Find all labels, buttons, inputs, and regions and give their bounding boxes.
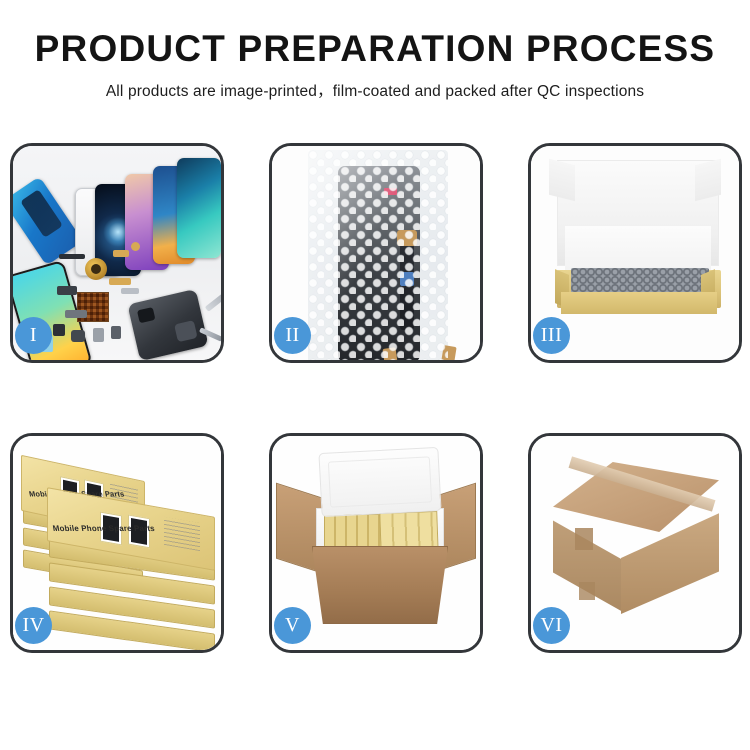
process-step-panel-1: I [10, 143, 224, 363]
phone-display-teal-icon [177, 158, 221, 258]
page-title: PRODUCT PREPARATION PROCESS [0, 30, 750, 69]
bubble-wrap-bag [308, 150, 448, 360]
speaker-icon [111, 326, 121, 339]
box-lid-flap-right [695, 159, 721, 201]
camera-module-icon [53, 324, 65, 336]
connector-icon [57, 286, 77, 295]
step-badge-4: IV [15, 607, 52, 644]
page-subtitle: All products are image-printed，film-coat… [0, 79, 750, 101]
foam-lid-icon [318, 447, 441, 517]
product-preparation-process-page: PRODUCT PREPARATION PROCESS All products… [0, 0, 750, 750]
vibrator-icon [71, 330, 85, 342]
step-badge-2: II [274, 317, 311, 354]
bubble-wrapped-contents [571, 268, 709, 294]
box-stack: Mobile Phone Spare Parts Mobile Phone Sp… [17, 454, 221, 638]
process-step-panel-3: III [528, 143, 742, 363]
box-spec-lines-2 [164, 517, 200, 551]
process-step-panel-4: Mobile Phone Spare Parts Mobile Phone Sp… [10, 433, 224, 653]
box-label-front: Mobile Phone Spare Parts [52, 524, 155, 533]
carton-tab-upper [575, 528, 593, 550]
tray-front-face [561, 292, 717, 314]
bracket-icon [65, 310, 87, 318]
step-badge-6: VI [533, 607, 570, 644]
part-strip-icon [59, 254, 85, 259]
box-lid-flap-left [549, 159, 575, 201]
process-step-panel-2: II [269, 143, 483, 363]
home-button-icon [131, 242, 140, 251]
page-header: PRODUCT PREPARATION PROCESS All products… [0, 0, 750, 101]
carton-body-icon [312, 546, 448, 624]
step-badge-1: I [15, 317, 52, 354]
bag-highlight [308, 150, 448, 360]
flex-cable-icon [113, 250, 129, 257]
flex-ribbon-icon [109, 278, 131, 285]
process-step-panel-5: V [269, 433, 483, 653]
process-step-panel-6: VI [528, 433, 742, 653]
carton-tab-lower [579, 582, 595, 600]
speaker-coil-icon [85, 258, 107, 280]
step-badge-3: III [533, 317, 570, 354]
step-badge-5: V [274, 607, 311, 644]
antenna-icon [121, 288, 139, 294]
sim-tray-icon [93, 328, 104, 342]
process-steps-grid: I II [10, 143, 742, 653]
